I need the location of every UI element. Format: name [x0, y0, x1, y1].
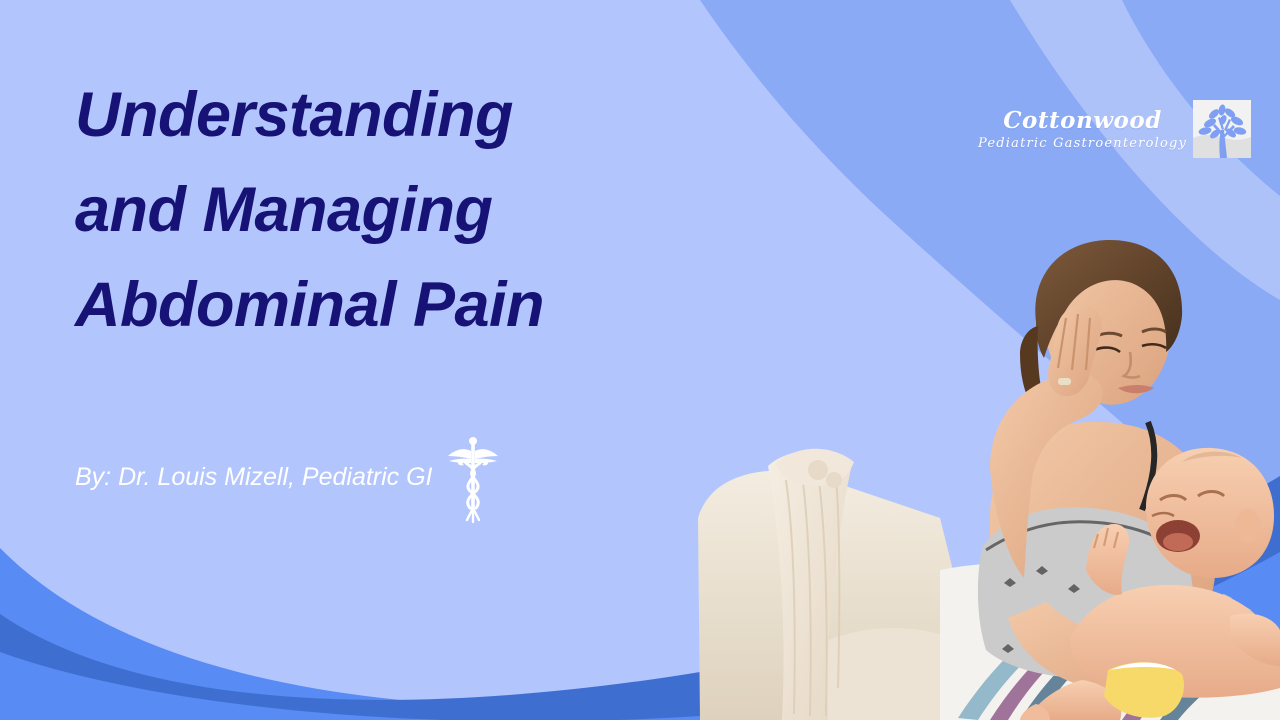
logo-text: Cottonwood Pediatric Gastroenterology	[978, 109, 1187, 150]
logo-name: Cottonwood	[1003, 109, 1162, 132]
title-line-1: Understanding	[75, 68, 715, 163]
page-title: Understanding and Managing Abdominal Pai…	[75, 68, 715, 353]
mother-and-baby-photo	[690, 218, 1280, 720]
title-line-2: and Managing	[75, 163, 715, 258]
tree-icon	[1193, 100, 1251, 158]
byline-text: By: Dr. Louis Mizell, Pediatric GI	[75, 460, 433, 494]
title-line-3: Abdominal Pain	[75, 258, 715, 353]
logo: Cottonwood Pediatric Gastroenterology	[978, 100, 1251, 158]
byline: By: Dr. Louis Mizell, Pediatric GI	[75, 428, 499, 526]
title-slide: Understanding and Managing Abdominal Pai…	[0, 0, 1280, 720]
caduceus-icon	[447, 434, 499, 526]
logo-subtitle: Pediatric Gastroenterology	[978, 137, 1187, 150]
